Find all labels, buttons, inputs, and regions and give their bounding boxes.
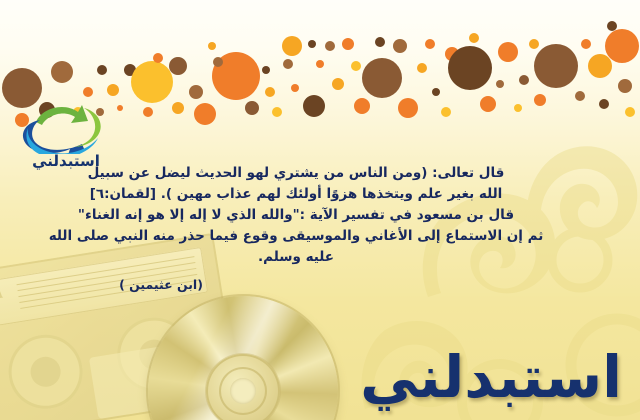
- recycle-arrows-icon: [18, 98, 114, 154]
- quote-attribution: (ابن عثيمين ): [36, 277, 286, 292]
- disc-center-hole: [230, 378, 256, 404]
- cassette-side-label: A: [0, 283, 5, 305]
- quote-text-block: قال تعالى: (ومن الناس من يشتري لهو الحدي…: [36, 163, 556, 268]
- poster-canvas: A: [0, 0, 640, 420]
- quote-line-4: ثم إن الاستماع إلى الأغاني والموسيقى وقو…: [36, 226, 556, 268]
- quote-line-3: قال بن مسعود في تفسير الآية :"والله الذي…: [36, 205, 556, 226]
- brand-wordmark-large: استبدلني: [360, 348, 622, 406]
- quote-line-1: قال تعالى: (ومن الناس من يشتري لهو الحدي…: [36, 163, 556, 184]
- quote-line-2: الله بغير علم ويتخذها هزوًا أولئك لهم عذ…: [36, 184, 556, 205]
